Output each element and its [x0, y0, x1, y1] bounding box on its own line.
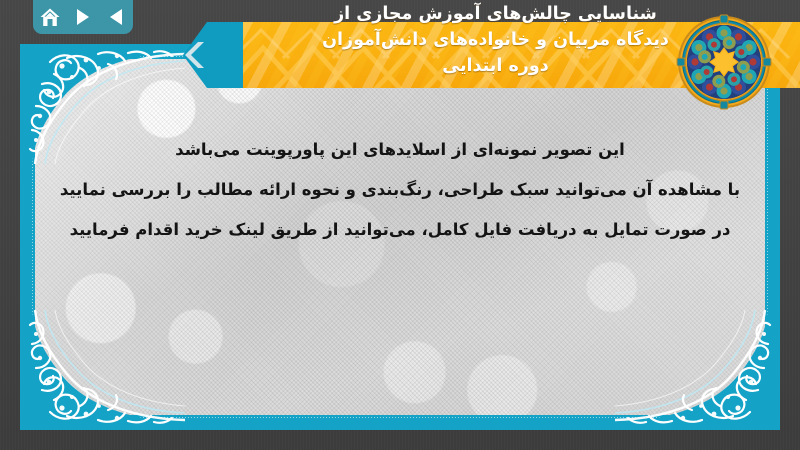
next-slide-button[interactable] [72, 6, 94, 28]
home-button[interactable] [39, 6, 61, 28]
chevron-left-banner-icon [183, 22, 245, 88]
body-line-1: این تصویر نمونه‌ای از اسلایدهای این پاور… [50, 130, 750, 170]
body-line-2: با مشاهده آن می‌توانید سبک طراحی، رنگ‌بن… [50, 170, 750, 210]
triangle-left-icon [108, 8, 124, 26]
persian-mandala-icon [676, 14, 772, 110]
slide-navigation-bar [33, 0, 133, 34]
home-icon [40, 8, 60, 27]
body-text-block: این تصویر نمونه‌ای از اسلایدهای این پاور… [50, 130, 750, 250]
previous-slide-button[interactable] [105, 6, 127, 28]
triangle-right-icon [75, 8, 91, 26]
body-line-3: در صورت تمایل به دریافت فایل کامل، می‌تو… [50, 210, 750, 250]
slide-canvas: شناسایی چالش‌های آموزش مجازی از دیدگاه م… [0, 0, 800, 450]
